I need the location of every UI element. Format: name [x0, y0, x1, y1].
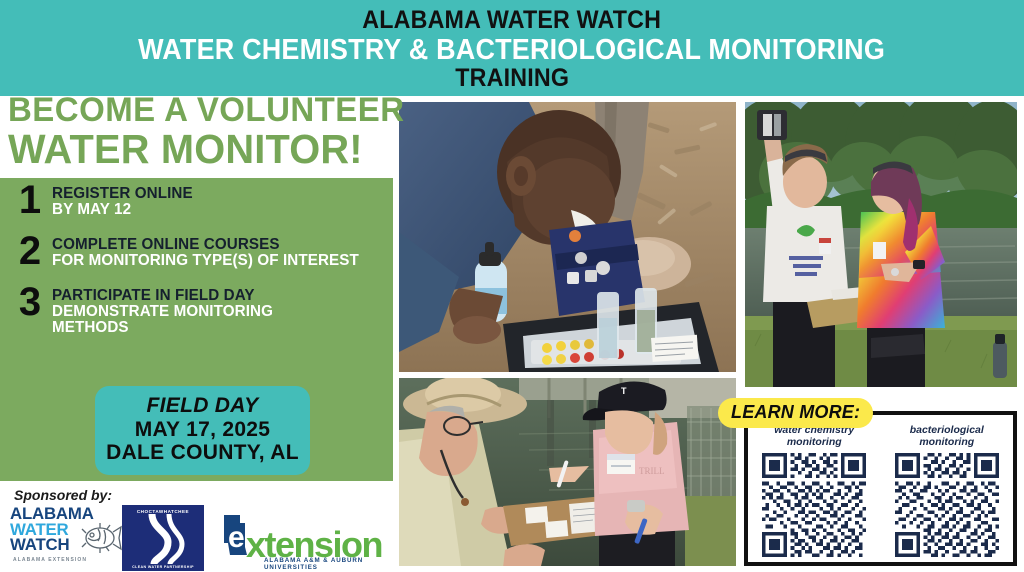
qr-label-line1: bacteriological — [887, 425, 1007, 437]
photo-two-women-holding-meter — [745, 102, 1017, 387]
qr-code-icon[interactable] — [762, 453, 866, 557]
headline: BECOME A VOLUNTEER WATER MONITOR! — [8, 94, 401, 169]
step-item: 2 COMPLETE ONLINE COURSES FOR MONITORING… — [0, 235, 393, 269]
step-subtitle: FOR MONITORING TYPE(S) OF INTEREST — [52, 253, 359, 269]
qr-cell-bacteriological[interactable]: bacteriological monitoring — [887, 425, 1007, 557]
sponsored-by-label: Sponsored by: — [14, 487, 112, 503]
choctawhatchee-sublabel: CLEAN WATER PARTNERSHIP — [122, 565, 204, 569]
field-day-callout: FIELD DAY MAY 17, 2025 DALE COUNTY, AL — [95, 386, 310, 475]
choctawhatchee-title: CHOCTAWHATCHEE — [122, 505, 204, 514]
field-day-title: FIELD DAY — [105, 394, 300, 418]
qr-label-line2: monitoring — [887, 437, 1007, 449]
step-title: PARTICIPATE IN FIELD DAY — [52, 288, 297, 304]
headline-line2: WATER MONITOR! — [8, 129, 389, 169]
field-day-date: MAY 17, 2025 — [105, 418, 300, 442]
river-icon — [122, 514, 204, 564]
header-title-line2: WATER CHEMISTRY & BACTERIOLOGICAL MONITO… — [139, 36, 886, 66]
qr-label-line2: monitoring — [754, 437, 874, 449]
svg-text:TRILL: TRILL — [639, 466, 665, 476]
alabama-water-watch-logo: ALABAMA WATER WATCH ALABAMA EXTENSION — [10, 507, 120, 563]
step-title: COMPLETE ONLINE COURSES — [52, 237, 359, 253]
photo-man-and-woman-with-clipboard: T TRILL — [399, 378, 736, 566]
steps-list: 1 REGISTER ONLINE BY MAY 12 2 COMPLETE O… — [0, 184, 393, 353]
step-title: REGISTER ONLINE — [52, 186, 193, 202]
step-number: 3 — [12, 286, 48, 319]
field-day-location: DALE COUNTY, AL — [105, 441, 300, 465]
headline-line1: BECOME A VOLUNTEER — [8, 94, 389, 127]
step-number: 1 — [12, 184, 48, 217]
flyer-poster: ALABAMA WATER WATCH WATER CHEMISTRY & BA… — [0, 0, 1024, 572]
step-subtitle: BY MAY 12 — [52, 202, 193, 218]
header-title-line1: ALABAMA WATER WATCH — [363, 8, 662, 34]
fish-icon — [80, 521, 122, 555]
step-number: 2 — [12, 235, 48, 268]
svg-text:e: e — [228, 521, 245, 554]
svg-text:T: T — [621, 386, 627, 396]
aww-sublabel: ALABAMA EXTENSION — [13, 557, 120, 563]
learn-more-badge: LEARN MORE: — [718, 398, 873, 428]
sponsors-bar: Sponsored by: ALABAMA WATER WATCH ALABAM… — [0, 481, 393, 572]
choctawhatchee-logo: CHOCTAWHATCHEE CLEAN WATER PARTNERSHIP — [122, 505, 204, 571]
photo-man-testing-water-kit — [399, 102, 736, 372]
qr-code-icon[interactable] — [895, 453, 999, 557]
qr-cell-water-chemistry[interactable]: water chemistry monitoring — [754, 425, 874, 557]
learn-more-qr-box: water chemistry monitoring — [744, 411, 1017, 566]
step-item: 1 REGISTER ONLINE BY MAY 12 — [0, 184, 393, 218]
step-subtitle: DEMONSTRATE MONITORING METHODS — [52, 304, 297, 336]
header-banner: ALABAMA WATER WATCH WATER CHEMISTRY & BA… — [0, 0, 1024, 96]
step-item: 3 PARTICIPATE IN FIELD DAY DEMONSTRATE M… — [0, 286, 393, 336]
header-title-line3: TRAINING — [455, 66, 569, 92]
extension-logo: e xtension ALABAMA A&M & AUBURN UNIVERSI… — [220, 513, 393, 571]
